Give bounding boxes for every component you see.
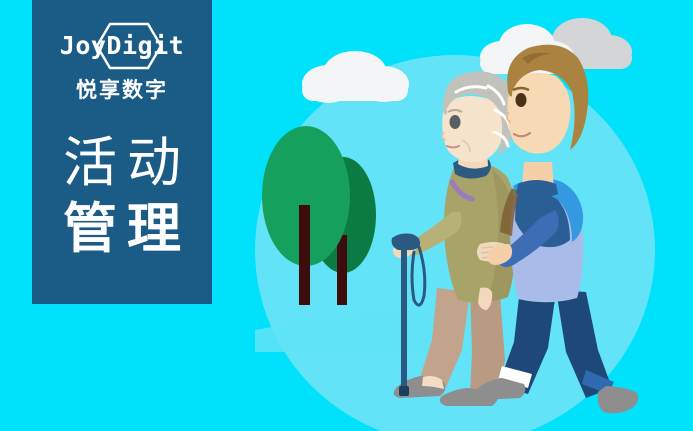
- cane-handle: [392, 234, 421, 251]
- woman-face: [442, 96, 503, 162]
- title-line-1: 活动: [32, 130, 212, 196]
- poster-title: 活动 管理: [32, 130, 212, 262]
- woman-eye: [450, 115, 461, 129]
- man-eye: [516, 93, 527, 107]
- cane-tip: [399, 386, 409, 396]
- title-line-2: 管理: [32, 196, 212, 262]
- man-neck-collar: [516, 180, 558, 198]
- poster-canvas: JoyDigit 悦享数字 活动 管理: [0, 0, 693, 431]
- brand-logo: JoyDigit 悦享数字: [32, 18, 212, 123]
- title-panel: JoyDigit 悦享数字 活动 管理: [32, 0, 212, 304]
- hexagon-outline-icon: JoyDigit: [56, 18, 188, 74]
- cane-shaft: [401, 250, 407, 390]
- brand-name-cn: 悦享数字: [32, 76, 212, 104]
- man-face: [507, 73, 570, 154]
